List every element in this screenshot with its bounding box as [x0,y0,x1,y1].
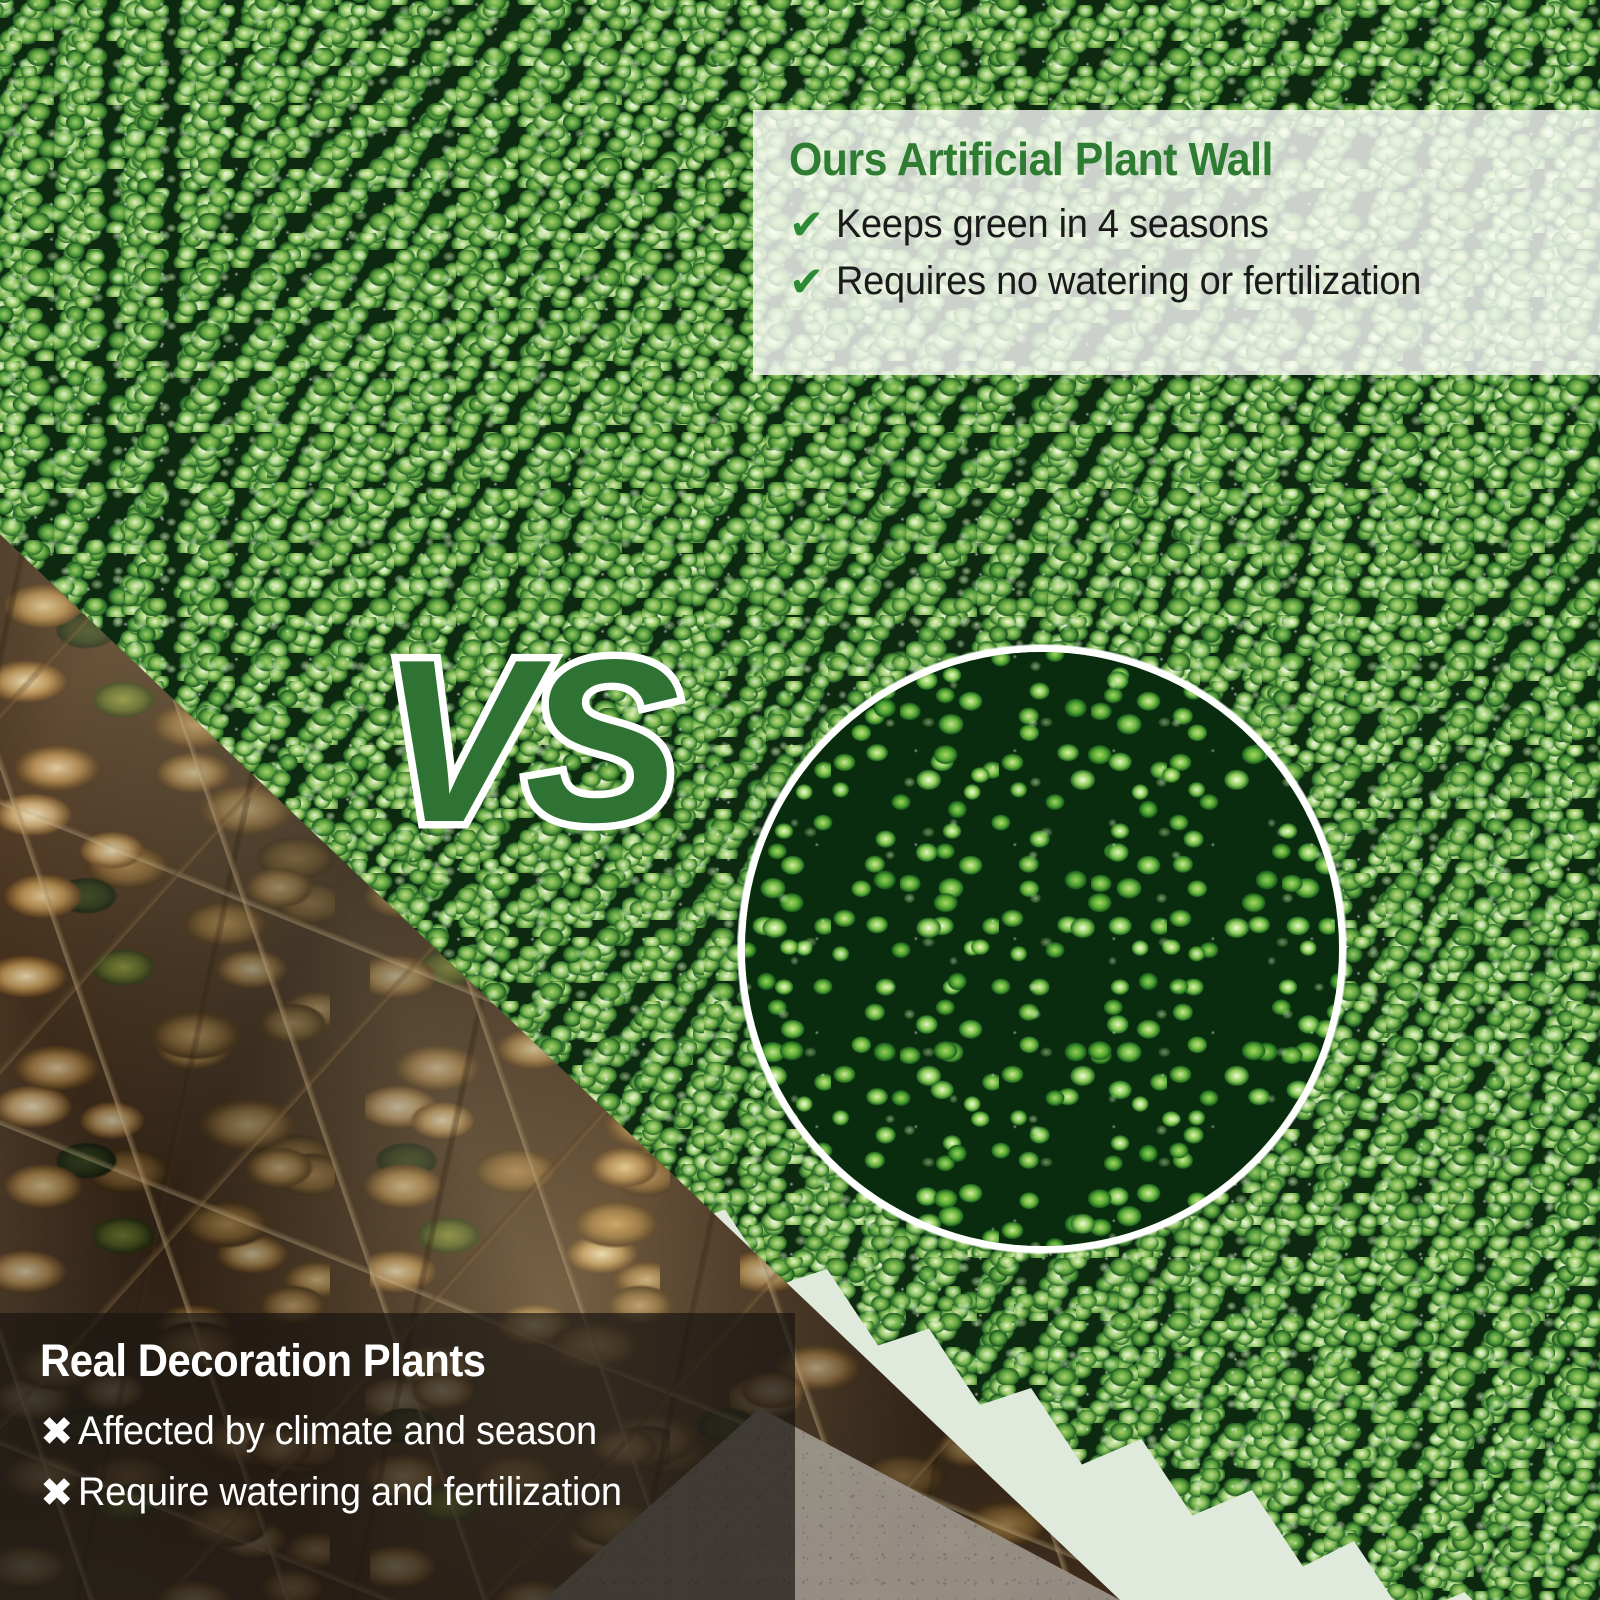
cross-icon: ✖ [40,1473,74,1513]
ours-panel-title: Ours Artificial Plant Wall [789,132,1534,186]
leaf-closeup-circle-inset [738,645,1346,1253]
comparison-infographic: VS Ours Artificial Plant Wall ✔ Keeps gr… [0,0,1600,1600]
real-panel-title: Real Decoration Plants [40,1335,733,1387]
real-bullet-label: Require watering and fertilization [78,1470,622,1515]
check-icon: ✔ [789,204,824,246]
vs-wordmark: VS [380,626,669,858]
leaf-closeup-texture [738,645,1346,1253]
ours-bullet-label: Requires no watering or fertilization [836,259,1421,304]
real-bullet-row: ✖ Require watering and fertilization [40,1470,785,1515]
real-bullet-label: Affected by climate and season [78,1409,597,1454]
ours-bullet-row: ✔ Keeps green in 4 seasons [789,202,1590,247]
real-panel: Real Decoration Plants ✖ Affected by cli… [0,1313,795,1600]
ours-bullet-row: ✔ Requires no watering or fertilization [789,259,1590,304]
ours-panel: Ours Artificial Plant Wall ✔ Keeps green… [753,110,1600,375]
ours-bullet-label: Keeps green in 4 seasons [836,202,1269,247]
real-bullet-row: ✖ Affected by climate and season [40,1409,785,1454]
check-icon: ✔ [789,261,824,303]
cross-icon: ✖ [40,1412,74,1452]
